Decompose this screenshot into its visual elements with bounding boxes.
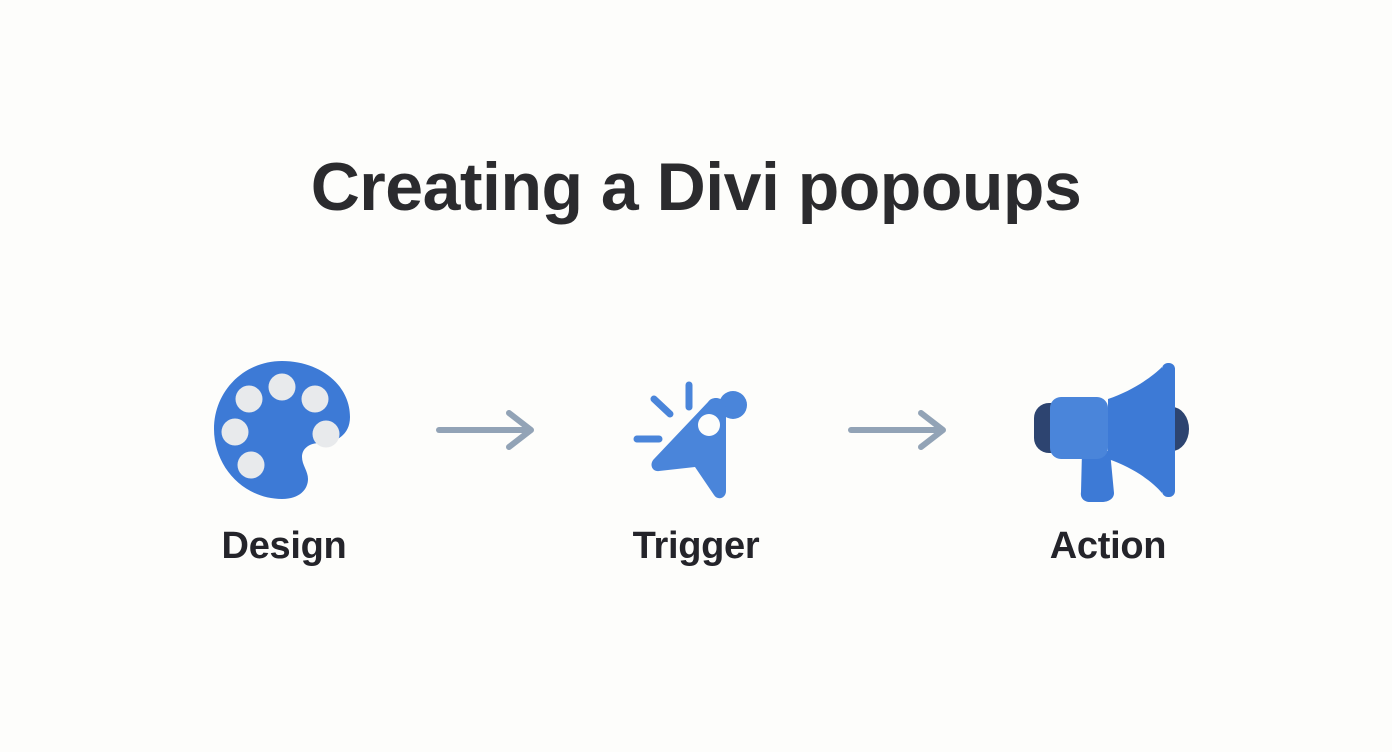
- flow-step-design[interactable]: Design: [168, 355, 400, 565]
- arrow-right-icon: [435, 407, 545, 453]
- click-cursor-icon: [621, 355, 771, 505]
- flow-step-action-icon-wrap: [1023, 355, 1193, 505]
- flow-step-trigger-icon-wrap: [611, 355, 781, 505]
- flow-step-design-icon-wrap: [199, 355, 369, 505]
- megaphone-icon: [1026, 355, 1191, 505]
- flow-connector-2: [812, 355, 992, 505]
- flow-connector-1: [400, 355, 580, 505]
- page-title: Creating a Divi popoups: [311, 150, 1082, 225]
- page-title-container: Creating a Divi popoups: [0, 150, 1392, 225]
- slide-canvas: Creating a Divi popoups Design: [0, 0, 1392, 752]
- flow-step-action[interactable]: Action: [992, 355, 1224, 565]
- flow-step-action-label: Action: [1050, 527, 1166, 565]
- flow-step-design-label: Design: [222, 527, 347, 565]
- process-flow: Design: [0, 355, 1392, 565]
- flow-step-trigger[interactable]: Trigger: [580, 355, 812, 565]
- arrow-right-icon: [847, 407, 957, 453]
- palette-icon: [204, 355, 364, 505]
- flow-step-trigger-label: Trigger: [633, 527, 760, 565]
